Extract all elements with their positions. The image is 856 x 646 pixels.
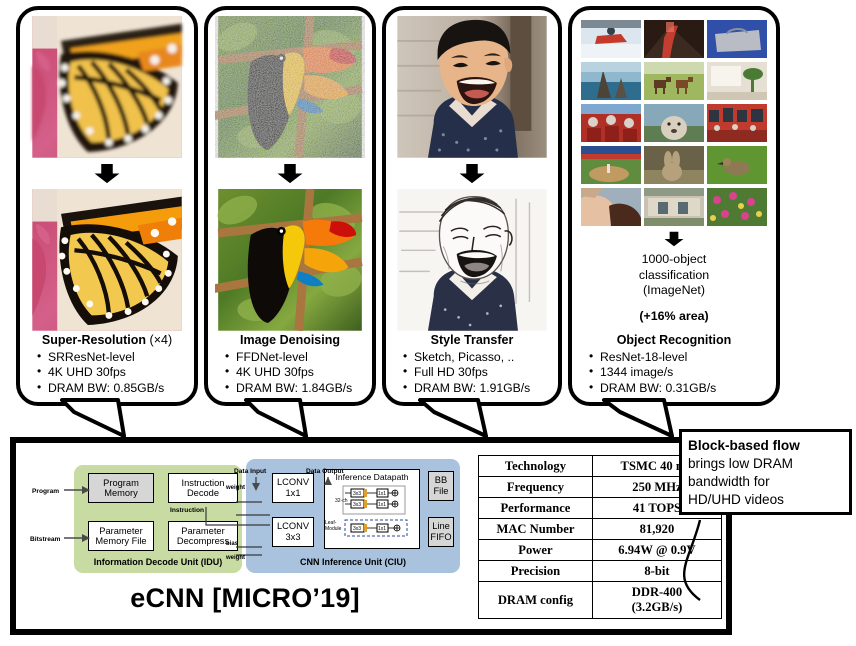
thumbnail-patio (707, 62, 767, 100)
bubble-title-suffix: (×4) (150, 333, 173, 347)
spec-key: Precision (479, 561, 593, 582)
list-item: 4K UHD 30fps (36, 365, 186, 381)
bubble-title: Super-Resolution (42, 333, 146, 347)
thumbnail-person-closeup (581, 188, 641, 226)
thumbnail-volcano (644, 20, 704, 58)
weight-label-b: weight (225, 555, 245, 561)
ecnn-title: eCNN [MICRO’19] (30, 583, 460, 614)
callout-line-3: bandwidth for (688, 473, 843, 491)
list-item: Sketch, Picasso, .. (402, 350, 550, 366)
callout-line-1: Block-based flow (688, 437, 843, 455)
spec-value-line-2: (3.2GB/s) (632, 600, 683, 614)
toucan-denoised-photo (215, 189, 365, 331)
input-program-label: Program (32, 488, 59, 495)
table-row: DRAM config DDR-400 (3.2GB/s) (479, 582, 722, 619)
toucan-noisy-photo (215, 16, 365, 158)
weight-label-a: weight (225, 485, 245, 491)
spec-value: 8-bit (592, 561, 721, 582)
thumbnail-snowmobile (581, 20, 641, 58)
list-item: DRAM BW: 1.84GB/s (224, 381, 364, 397)
spec-key: Performance (479, 498, 593, 519)
list-item: 4K UHD 30fps (224, 365, 364, 381)
thumbnail-horses (644, 62, 704, 100)
caption-image-denoising: Image Denoising FFDNet-level 4K UHD 30fp… (216, 333, 364, 397)
thumbnail-baseball (581, 146, 641, 184)
bias-label: bias (226, 541, 239, 547)
thumbnail-house (644, 188, 704, 226)
table-row: Power 6.94W @ 0.9V (479, 540, 722, 561)
caption-style-transfer: Style Transfer Sketch, Picasso, .. Full … (394, 333, 550, 397)
spec-key: MAC Number (479, 519, 593, 540)
table-row: Precision 8-bit (479, 561, 722, 582)
chip-block-diagram: Program Memory Instruction Decode Parame… (30, 455, 460, 573)
spec-value: 6.94W @ 0.9V (592, 540, 721, 561)
callout-line-4: HD/UHD videos (688, 491, 843, 509)
list-item: SRResNet-level (36, 350, 186, 366)
object-recognition-center-text: 1000-object classification (ImageNet) (+… (580, 252, 768, 323)
area-overhead-label: (+16% area) (580, 309, 768, 323)
poster-canvas: Super-Resolution (×4) SRResNet-level 4K … (0, 0, 856, 646)
spec-value: 81,920 (592, 519, 721, 540)
bubble-style-transfer: Style Transfer Sketch, Picasso, .. Full … (382, 6, 562, 406)
center-line-1: 1000-object (580, 252, 768, 268)
bubble-title: Style Transfer (431, 333, 514, 347)
spec-key: DRAM config (479, 582, 593, 619)
table-row: MAC Number 81,920 (479, 519, 722, 540)
thumbnail-crowd-red (581, 104, 641, 142)
spec-key: Power (479, 540, 593, 561)
thumbnail-bird-grass (707, 146, 767, 184)
list-item: ResNet-18-level (588, 350, 768, 366)
down-arrow-icon (457, 163, 487, 184)
butterfly-low-res-photo (29, 16, 185, 158)
chip-wiring: Program Bitstream Data Input Data Output… (30, 455, 460, 585)
center-line-2: classification (580, 268, 768, 284)
bubble-object-recognition: 1000-object classification (ImageNet) (+… (568, 6, 780, 406)
down-arrow-icon (659, 231, 689, 247)
callout-line-2: brings low DRAM (688, 455, 843, 473)
ecnn-main-box: Program Memory Instruction Decode Parame… (10, 437, 732, 635)
list-item: DRAM BW: 1.91GB/s (402, 381, 550, 397)
spec-key: Frequency (479, 477, 593, 498)
imagenet-thumbnail-grid (581, 20, 767, 226)
list-item: Full HD 30fps (402, 365, 550, 381)
spec-value: DDR-400 (3.2GB/s) (592, 582, 721, 619)
bubble-super-resolution: Super-Resolution (×4) SRResNet-level 4K … (16, 6, 198, 406)
butterfly-high-res-photo (29, 189, 185, 331)
bubble-title: Object Recognition (617, 333, 732, 347)
bubble-title: Image Denoising (240, 333, 340, 347)
list-item: DRAM BW: 0.85GB/s (36, 381, 186, 397)
callout-block-based-flow: Block-based flow brings low DRAM bandwid… (679, 429, 852, 515)
caption-object-recognition: Object Recognition ResNet-18-level 1344 … (580, 333, 768, 397)
thumbnail-dog (644, 104, 704, 142)
thumbnail-flowers (707, 188, 767, 226)
data-output-label: Data Output (306, 468, 345, 475)
portrait-sketch-photo (394, 189, 550, 331)
input-bitstream-label: Bitstream (30, 536, 61, 543)
center-line-3: (ImageNet) (580, 283, 768, 299)
thumbnail-rabbit (644, 146, 704, 184)
down-arrow-icon (92, 163, 122, 184)
thumbnail-bag (707, 20, 767, 58)
data-input-label: Data Input (234, 468, 267, 475)
thumbnail-sea-stack (581, 62, 641, 100)
down-arrow-icon (275, 163, 305, 184)
caption-super-resolution: Super-Resolution (×4) SRResNet-level 4K … (28, 333, 186, 397)
spec-value-line-1: DDR-400 (632, 585, 682, 599)
spec-key: Technology (479, 456, 593, 477)
list-item: FFDNet-level (224, 350, 364, 366)
list-item: 1344 image/s (588, 365, 768, 381)
thumbnail-crowd-bleachers (707, 104, 767, 142)
portrait-photo (394, 16, 550, 158)
list-item: DRAM BW: 0.31GB/s (588, 381, 768, 397)
bubble-image-denoising: Image Denoising FFDNet-level 4K UHD 30fp… (204, 6, 376, 406)
